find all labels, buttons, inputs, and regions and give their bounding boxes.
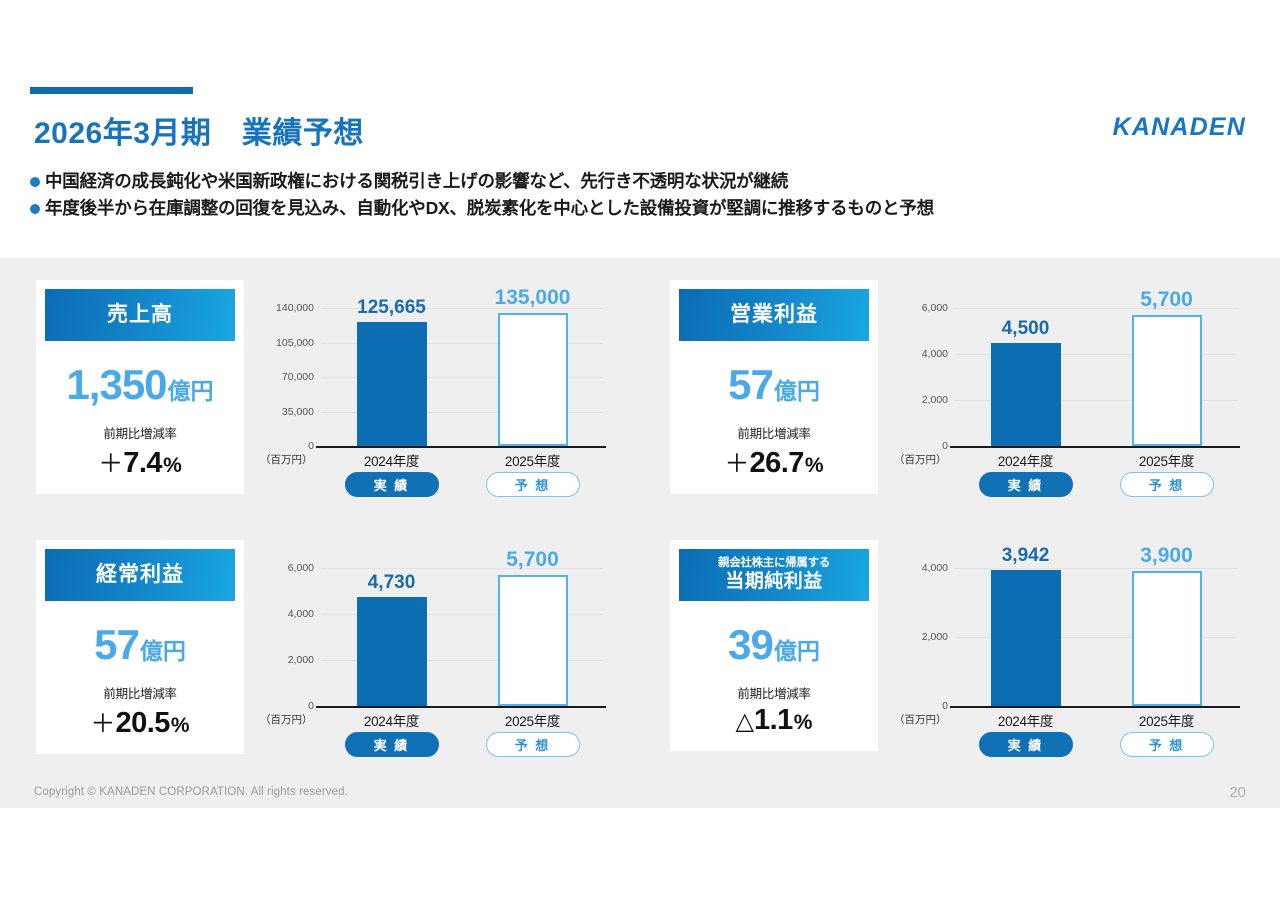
kpi-card-subtitle: 親会社株主に帰属する [718,557,830,570]
slide: 2026年3月期 業績予想 KANADEN 中国経済の成長鈍化や米国新政権におけ… [0,0,1280,905]
y-axis-tick-label: 2,000 [922,394,948,406]
chart-unit-note: （百万円） [894,712,947,727]
kpi-card-title: 売上高 [107,303,173,327]
bar-column[interactable]: 125,665 [357,308,427,446]
bar-column[interactable]: 3,900 [1132,568,1202,706]
x-axis-line [316,706,606,708]
y-axis-tick-label: 2,000 [922,631,948,643]
x-axis-categories: 2024年度2025年度 [321,710,603,730]
legend-pill-actual[interactable]: 実 績 [345,732,439,757]
chart-bars: 3,9423,900 [955,568,1237,706]
page-number: 20 [1229,784,1246,801]
y-axis-tick-label: 6,000 [288,562,314,574]
chart-unit-note: （百万円） [894,452,947,467]
x-axis-line [316,446,606,448]
kpi-delta: ＋20.5% [90,704,189,740]
x-axis-category-label: 2025年度 [1112,450,1222,470]
y-axis-tick-label: 6,000 [922,302,948,314]
bar-value-label: 5,700 [1097,288,1237,312]
kpi-delta-caption: 前期比増減率 [737,683,810,702]
bar-chart: 02,0004,0006,000（百万円）4,5005,7002024年度202… [892,280,1246,510]
x-axis-categories: 2024年度2025年度 [321,450,603,470]
kpi-value-unit: 億円 [168,372,214,406]
y-axis-tick-label: 0 [942,440,948,452]
x-axis-line [950,446,1240,448]
y-axis-tick-label: 4,000 [288,608,314,620]
kpi-delta-percent: % [163,454,182,478]
x-axis-line [950,706,1240,708]
kpi-value-number: 57 [94,621,139,669]
bar-actual[interactable] [357,597,427,706]
bullet-item: 中国経済の成長鈍化や米国新政権における関税引き上げの影響など、先行き不透明な状況… [30,168,1250,195]
kpi-delta-sign: ＋ [724,444,749,480]
kpi-card-header: 経常利益 [45,549,235,601]
bar-value-label: 4,730 [322,572,462,594]
kpi-delta-caption: 前期比増減率 [103,423,176,442]
kpi-card-title: 営業利益 [730,303,818,327]
kpi-card: 親会社株主に帰属する当期純利益39億円前期比増減率△1.1% [670,540,878,751]
bar-column[interactable]: 4,500 [991,308,1061,446]
y-axis-tick-label: 0 [942,700,948,712]
kpi-delta-sign: ＋ [98,444,123,480]
legend-pill-forecast[interactable]: 予 想 [486,472,580,497]
bar-column[interactable]: 5,700 [1132,308,1202,446]
y-axis-tick-label: 35,000 [282,406,314,418]
kpi-delta-value: 7.4 [123,447,162,480]
bar-value-label: 4,500 [956,318,1096,340]
bar-column[interactable]: 4,730 [357,568,427,706]
kpi-value-unit: 億円 [774,372,820,406]
kpi-delta-sign: △ [736,707,754,736]
x-axis-category-label: 2025年度 [1112,710,1222,730]
kpi-delta: ＋26.7% [724,444,823,480]
y-axis-tick-label: 105,000 [276,337,314,349]
kpi-delta: ＋7.4% [98,444,182,480]
bar-value-label: 3,900 [1097,544,1237,568]
kpi-delta-value: 20.5 [115,707,169,740]
kpi-value: 1,350億円 [66,361,213,409]
bullet-list: 中国経済の成長鈍化や米国新政権における関税引き上げの影響など、先行き不透明な状況… [30,168,1250,222]
bar-actual[interactable] [991,570,1061,706]
bullet-text: 年度後半から在庫調整の回復を見込み、自動化やDX、脱炭素化を中心とした設備投資が… [45,195,934,222]
kpi-block: 経常利益57億円前期比増減率＋20.5%02,0004,0006,000（百万円… [0,518,634,778]
bar-forecast[interactable] [498,313,568,446]
bar-value-label: 5,700 [463,548,603,572]
page-title: 2026年3月期 業績予想 [34,108,364,152]
bar-chart: 035,00070,000105,000140,000（百万円）125,6651… [258,280,614,510]
y-axis-tick-label: 4,000 [922,348,948,360]
chart-legend: 実 績予 想 [955,472,1237,497]
legend-pill-forecast[interactable]: 予 想 [1120,732,1214,757]
bullet-dot-icon [30,177,40,187]
bar-column[interactable]: 5,700 [498,568,568,706]
kpi-delta: △1.1% [736,704,813,737]
kpi-delta-percent: % [171,714,190,738]
y-axis-labels: 02,0004,000 [892,568,948,706]
chart-bars: 4,5005,700 [955,308,1237,446]
kpi-value: 57億円 [728,361,820,409]
kpi-card: 経常利益57億円前期比増減率＋20.5% [36,540,244,754]
y-axis-labels: 035,00070,000105,000140,000 [258,308,314,446]
kpi-value: 39億円 [728,621,820,669]
y-axis-tick-label: 4,000 [922,562,948,574]
bar-forecast[interactable] [1132,315,1202,446]
chart-legend: 実 績予 想 [321,732,603,757]
legend-pill-forecast[interactable]: 予 想 [1120,472,1214,497]
bar-chart: 02,0004,000（百万円）3,9423,9002024年度2025年度実 … [892,540,1246,770]
y-axis-tick-label: 70,000 [282,371,314,383]
kpi-card-title: 当期純利益 [725,571,823,593]
legend-pill-actual[interactable]: 実 績 [345,472,439,497]
bar-column[interactable]: 135,000 [498,308,568,446]
x-axis-category-label: 2024年度 [971,450,1081,470]
chart-unit-note: （百万円） [260,712,313,727]
legend-pill-forecast[interactable]: 予 想 [486,732,580,757]
kpi-card: 売上高1,350億円前期比増減率＋7.4% [36,280,244,494]
legend-pill-actual[interactable]: 実 績 [979,732,1073,757]
kpi-block: 営業利益57億円前期比増減率＋26.7%02,0004,0006,000（百万円… [634,258,1246,518]
kpi-block: 親会社株主に帰属する当期純利益39億円前期比増減率△1.1%02,0004,00… [634,518,1246,778]
bar-column[interactable]: 3,942 [991,568,1061,706]
kpi-value-number: 1,350 [66,361,166,409]
kpi-card: 営業利益57億円前期比増減率＋26.7% [670,280,878,494]
kpi-value: 57億円 [94,621,186,669]
bar-value-label: 125,665 [322,297,462,319]
kpi-block: 売上高1,350億円前期比増減率＋7.4%035,00070,000105,00… [0,258,634,518]
legend-pill-actual[interactable]: 実 績 [979,472,1073,497]
x-axis-category-label: 2024年度 [337,710,447,730]
y-axis-tick-label: 0 [308,440,314,452]
bullet-text: 中国経済の成長鈍化や米国新政権における関税引き上げの影響など、先行き不透明な状況… [45,168,788,195]
kpi-value-unit: 億円 [774,632,820,666]
kpi-delta-caption: 前期比増減率 [737,423,810,442]
bar-chart: 02,0004,0006,000（百万円）4,7305,7002024年度202… [258,540,614,770]
kpi-delta-percent: % [794,711,813,735]
bar-actual[interactable] [991,343,1061,447]
kpi-value-unit: 億円 [140,632,186,666]
kanaden-logo: KANADEN [1113,113,1246,142]
bar-forecast[interactable] [1132,571,1202,706]
chart-bars: 125,665135,000 [321,308,603,446]
kpi-delta-sign: ＋ [90,704,115,740]
bullet-dot-icon [30,204,40,214]
kpi-card-header: 営業利益 [679,289,869,341]
x-axis-category-label: 2025年度 [478,710,588,730]
kpi-grid: 売上高1,350億円前期比増減率＋7.4%035,00070,000105,00… [0,258,1280,778]
chart-legend: 実 績予 想 [321,472,603,497]
chart-bars: 4,7305,700 [321,568,603,706]
x-axis-categories: 2024年度2025年度 [955,710,1237,730]
kpi-delta-caption: 前期比増減率 [103,683,176,702]
kpi-card-title: 経常利益 [96,563,184,587]
x-axis-category-label: 2024年度 [337,450,447,470]
bar-forecast[interactable] [498,575,568,706]
kpi-card-header: 親会社株主に帰属する当期純利益 [679,549,869,601]
x-axis-categories: 2024年度2025年度 [955,450,1237,470]
kpi-value-number: 39 [728,621,773,669]
bar-value-label: 3,942 [956,545,1096,567]
chart-legend: 実 績予 想 [955,732,1237,757]
title-accent-bar [30,87,193,94]
chart-unit-note: （百万円） [260,452,313,467]
kpi-delta-percent: % [805,454,824,478]
y-axis-tick-label: 140,000 [276,302,314,314]
x-axis-category-label: 2025年度 [478,450,588,470]
kpi-delta-value: 1.1 [754,704,793,737]
bar-actual[interactable] [357,322,427,446]
y-axis-labels: 02,0004,0006,000 [892,308,948,446]
kpi-card-header: 売上高 [45,289,235,341]
y-axis-tick-label: 2,000 [288,654,314,666]
y-axis-tick-label: 0 [308,700,314,712]
x-axis-category-label: 2024年度 [971,710,1081,730]
y-axis-labels: 02,0004,0006,000 [258,568,314,706]
copyright-text: Copyright © KANADEN CORPORATION. All rig… [34,786,348,798]
kpi-value-number: 57 [728,361,773,409]
bar-value-label: 135,000 [463,286,603,310]
kpi-delta-value: 26.7 [749,447,803,480]
bullet-item: 年度後半から在庫調整の回復を見込み、自動化やDX、脱炭素化を中心とした設備投資が… [30,195,1250,222]
